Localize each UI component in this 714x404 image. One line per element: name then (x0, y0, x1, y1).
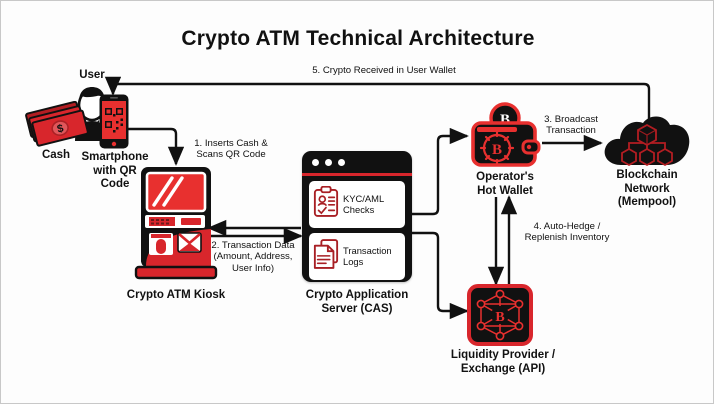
atm-label: Crypto ATM Kiosk (113, 289, 239, 303)
cas-card-kyc-label: KYC/AML Checks (343, 194, 384, 215)
cloud-blockchain-icon[interactable] (601, 109, 693, 171)
bitcoin-wallet-icon[interactable]: B B (467, 101, 543, 171)
svg-text:B: B (495, 310, 504, 325)
cas-card-kyc[interactable]: KYC/AML Checks (309, 181, 405, 228)
smartphone-qr-icon (99, 94, 129, 149)
atm-kiosk-icon[interactable] (134, 167, 218, 285)
user-label: User (63, 69, 121, 83)
window-dots-icon (312, 159, 345, 166)
flow-label-step4: 4. Auto-Hedge / Replenish Inventory (513, 221, 621, 244)
bitcoin-network-graph-icon[interactable]: B (467, 284, 533, 346)
clipboard-checklist-icon (313, 186, 339, 223)
svg-text:B: B (492, 142, 502, 158)
cas-card-logs-label: Transaction Logs (343, 246, 392, 267)
cash-stack-icon: $ (25, 101, 87, 147)
hot-wallet-label: Operator's Hot Wallet (457, 171, 553, 198)
blockchain-label: Blockchain Network (Mempool) (593, 169, 701, 210)
flow-label-step1: 1. Inserts Cash & Scans QR Code (169, 138, 293, 161)
arrow-cas-to-liquidity (412, 233, 467, 311)
node-user[interactable]: User (63, 69, 121, 83)
flow-label-step5: 5. Crypto Received in User Wallet (259, 65, 509, 76)
cas-server-window[interactable]: KYC/AML Checks Transaction Logs (302, 151, 412, 282)
cas-label: Crypto Application Server (CAS) (297, 289, 417, 316)
diagram-canvas: Crypto ATM Technical Architecture (0, 0, 714, 404)
flow-label-step3: 3. Broadcast Transaction (532, 114, 610, 137)
liquidity-label: Liquidity Provider / Exchange (API) (433, 349, 573, 376)
window-accent-bar (302, 173, 412, 176)
cas-card-logs[interactable]: Transaction Logs (309, 233, 405, 280)
documents-icon (313, 238, 339, 275)
